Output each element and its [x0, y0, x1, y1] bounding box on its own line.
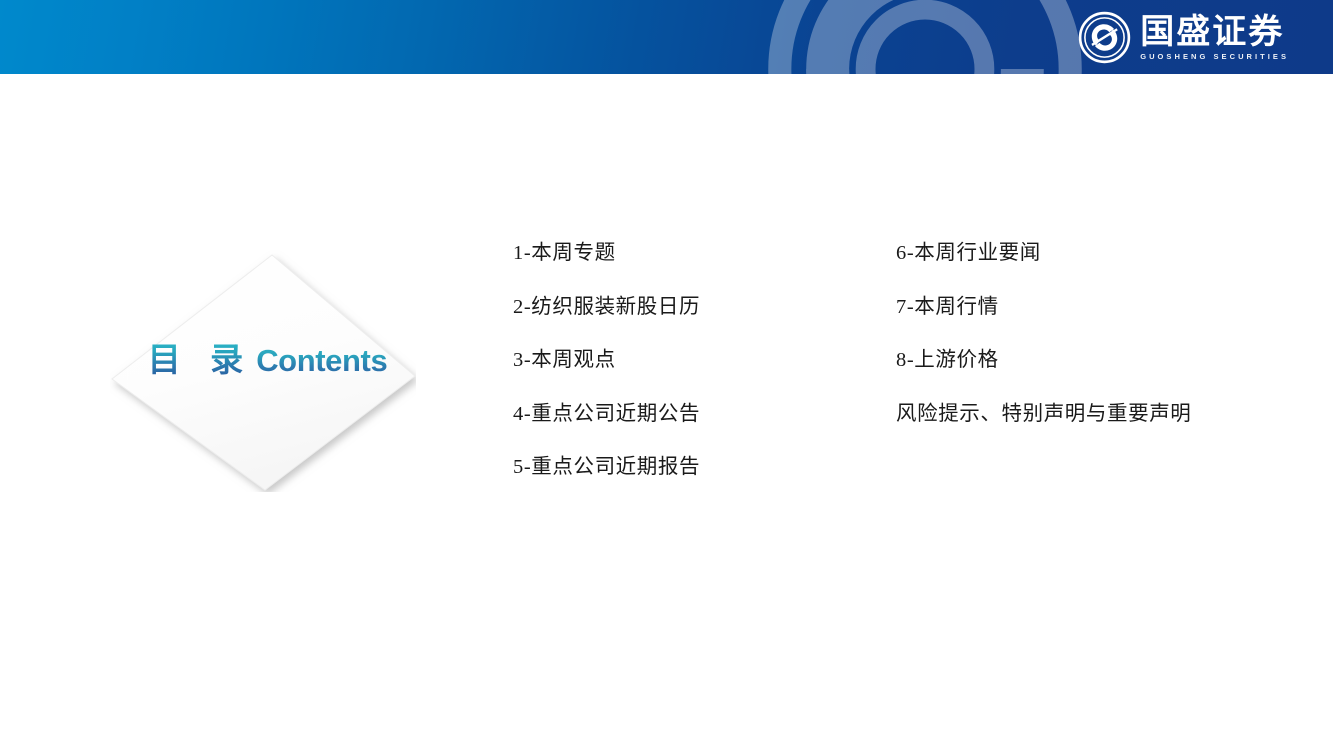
brand-name-cn: 国盛证券 [1140, 15, 1289, 50]
guosheng-circle-s-emblem-icon [1078, 11, 1131, 64]
brand-name-en: GUOSHENG SECURITIES [1140, 52, 1289, 61]
toc-item-disclaimer[interactable]: 风险提示、特别声明与重要声明 [896, 404, 1191, 458]
toc-item-3[interactable]: 3-本周观点 [513, 350, 700, 404]
toc-item-7[interactable]: 7-本周行情 [896, 297, 1191, 351]
brand-wordmark: 国盛证券 GUOSHENG SECURITIES [1140, 13, 1289, 62]
toc-item-6[interactable]: 6-本周行业要闻 [896, 243, 1191, 297]
header-banner: 国盛证券 GUOSHENG SECURITIES [0, 0, 1333, 74]
toc-item-8[interactable]: 8-上游价格 [896, 350, 1191, 404]
brand-logo: 国盛证券 GUOSHENG SECURITIES [1078, 7, 1289, 67]
toc-item-5[interactable]: 5-重点公司近期报告 [513, 457, 700, 511]
toc-item-1[interactable]: 1-本周专题 [513, 243, 700, 297]
banner-watermark-logo-icon [760, 0, 1090, 74]
toc-column-right: 6-本周行业要闻 7-本周行情 8-上游价格 风险提示、特别声明与重要声明 [896, 243, 1191, 457]
toc-column-left: 1-本周专题 2-纺织服装新股日历 3-本周观点 4-重点公司近期公告 5-重点… [513, 243, 700, 511]
contents-badge: 目 录 Contents [110, 248, 416, 492]
toc-item-4[interactable]: 4-重点公司近期公告 [513, 404, 700, 458]
diamond-shape [110, 248, 416, 492]
toc-item-2[interactable]: 2-纺织服装新股日历 [513, 297, 700, 351]
